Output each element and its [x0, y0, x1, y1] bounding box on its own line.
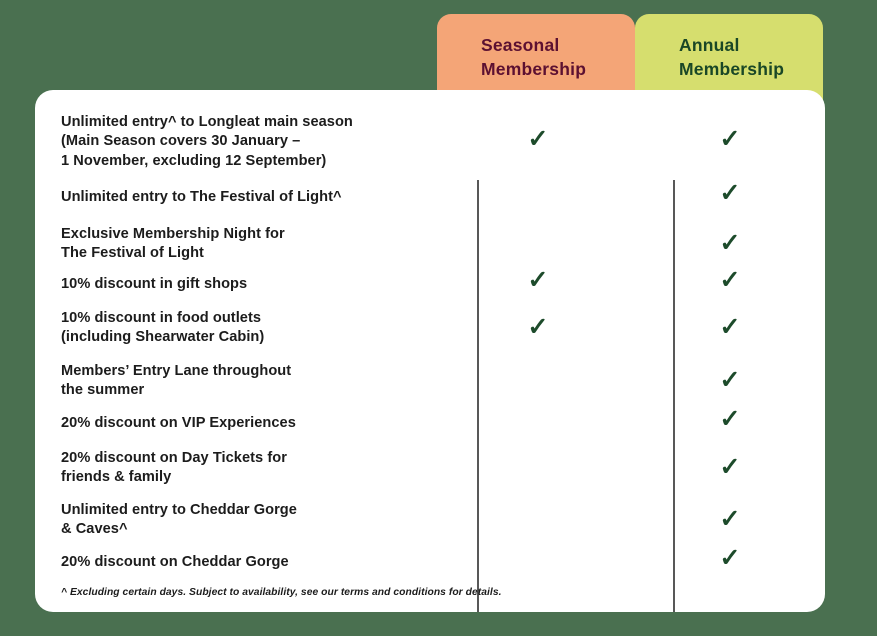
column-header-seasonal: Seasonal Membership — [437, 14, 635, 100]
column-header-seasonal-line1: Seasonal — [481, 34, 635, 58]
check-annual: ✓ — [710, 546, 750, 571]
check-annual: ✓ — [710, 231, 750, 256]
check-annual: ✓ — [710, 455, 750, 480]
column-header-annual-line2: Membership — [679, 58, 823, 82]
column-divider-seasonal — [477, 180, 479, 612]
column-divider-annual — [673, 180, 675, 612]
benefit-label: 20% discount on Day Tickets for friends … — [61, 449, 441, 488]
check-annual: ✓ — [710, 315, 750, 340]
benefits-card: Unlimited entry^ to Longleat main season… — [35, 90, 825, 612]
benefit-label: 20% discount on Cheddar Gorge — [61, 553, 441, 572]
benefit-label: 10% discount in gift shops — [61, 275, 441, 294]
check-annual: ✓ — [710, 368, 750, 393]
column-header-seasonal-line2: Membership — [481, 58, 635, 82]
membership-comparison-table: Seasonal Membership Annual Membership Un… — [0, 0, 877, 636]
benefit-label: 10% discount in food outlets (including … — [61, 309, 441, 348]
check-annual: ✓ — [710, 181, 750, 206]
benefit-label: Unlimited entry to The Festival of Light… — [61, 188, 441, 207]
check-annual: ✓ — [710, 268, 750, 293]
check-annual: ✓ — [710, 127, 750, 152]
benefit-label: Unlimited entry to Cheddar Gorge & Caves… — [61, 501, 441, 540]
column-header-annual-line1: Annual — [679, 34, 823, 58]
check-annual: ✓ — [710, 407, 750, 432]
benefit-label: 20% discount on VIP Experiences — [61, 414, 441, 433]
check-seasonal: ✓ — [518, 268, 558, 293]
check-annual: ✓ — [710, 507, 750, 532]
benefit-label: Members’ Entry Lane throughout the summe… — [61, 362, 441, 401]
benefit-label: Exclusive Membership Night for The Festi… — [61, 225, 441, 264]
footnote-text: ^ Excluding certain days. Subject to ava… — [61, 587, 761, 598]
column-header-annual: Annual Membership — [635, 14, 823, 100]
benefit-label: Unlimited entry^ to Longleat main season… — [61, 113, 441, 171]
check-seasonal: ✓ — [518, 127, 558, 152]
check-seasonal: ✓ — [518, 315, 558, 340]
